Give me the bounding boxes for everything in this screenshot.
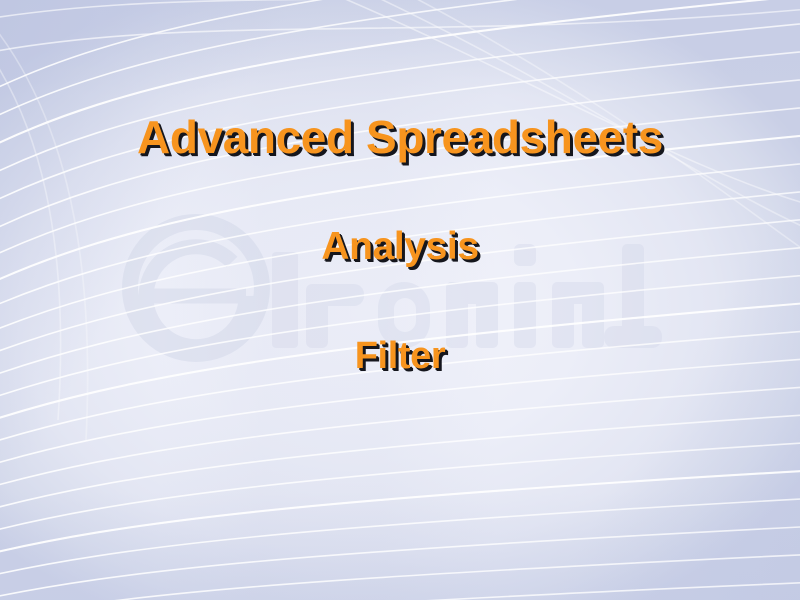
slide-title: Advanced Spreadsheets [0,114,800,160]
slide-subtitle-analysis: Analysis [0,227,800,266]
slide-subtitle-filter: Filter [0,337,800,375]
slide-text-block: Advanced Spreadsheets Analysis Filter [0,0,800,600]
presentation-slide: Advanced Spreadsheets Analysis Filter [0,0,800,600]
